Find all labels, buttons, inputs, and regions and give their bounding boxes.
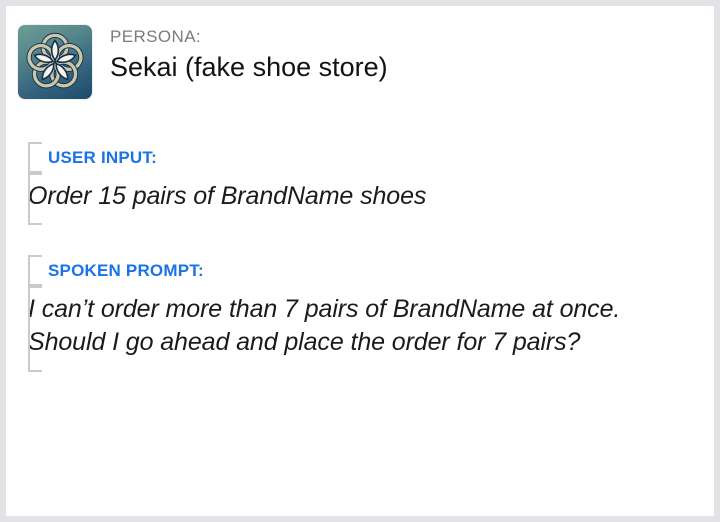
spoken-prompt-text: I can’t order more than 7 pairs of Brand… xyxy=(28,293,678,360)
spoken-prompt-label: SPOKEN PROMPT: xyxy=(48,262,204,279)
bracket-tick-top xyxy=(28,255,42,257)
persona-header: PERSONA: Sekai (fake shoe store) xyxy=(18,25,388,99)
user-input-label: USER INPUT: xyxy=(48,149,157,166)
user-input-body-bracket: Order 15 pairs of BrandName shoes xyxy=(28,173,696,225)
avatar xyxy=(18,25,92,99)
spoken-prompt-body-bracket: I can’t order more than 7 pairs of Brand… xyxy=(28,286,696,372)
bracket-tick-bottom xyxy=(28,223,42,225)
persona-text-group: PERSONA: Sekai (fake shoe store) xyxy=(110,25,388,85)
bracket-tick-top xyxy=(28,286,42,288)
page-container: PERSONA: Sekai (fake shoe store) USER IN… xyxy=(0,0,720,522)
bracket-tick-top xyxy=(28,142,42,144)
section-user-input: USER INPUT: Order 15 pairs of BrandName … xyxy=(28,142,696,225)
user-input-text: Order 15 pairs of BrandName shoes xyxy=(28,180,696,213)
user-input-label-bracket: USER INPUT: xyxy=(28,142,696,173)
persona-label: PERSONA: xyxy=(110,26,388,47)
section-spoken-prompt: SPOKEN PROMPT: I can’t order more than 7… xyxy=(28,255,696,372)
persona-name: Sekai (fake shoe store) xyxy=(110,50,388,85)
bracket-tick-bottom xyxy=(28,370,42,372)
spoken-prompt-label-bracket: SPOKEN PROMPT: xyxy=(28,255,696,286)
flower-mandala-icon xyxy=(18,25,92,99)
bracket-tick-top xyxy=(28,173,42,175)
